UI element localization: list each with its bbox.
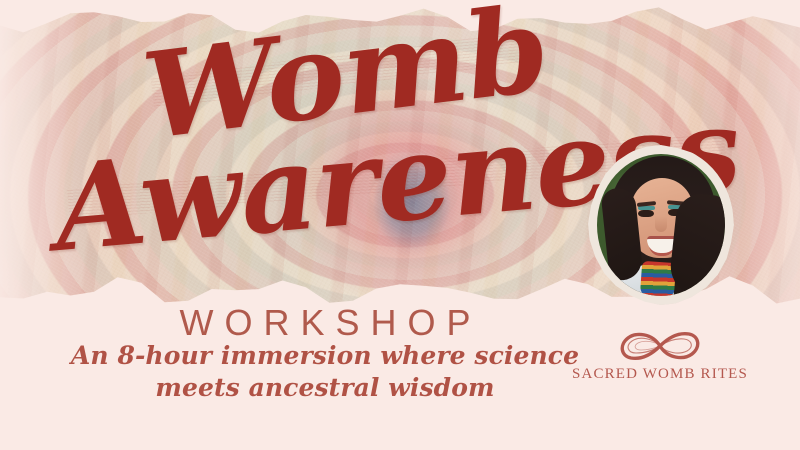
avatar-nose <box>655 216 667 232</box>
headline-subtitle-workshop: WORKSHOP <box>0 305 650 341</box>
tagline-line-2: meets ancestral wisdom <box>0 372 650 404</box>
avatar-eye-left <box>638 210 654 217</box>
avatar <box>588 145 734 305</box>
infinity-icon <box>612 328 708 364</box>
tagline: An 8-hour immersion where science meets … <box>0 340 650 404</box>
brand-name: SACRED WOMB RITES <box>565 366 755 383</box>
avatar-photo <box>597 154 725 296</box>
poster-canvas: Womb Awareness WORKSHOP An 8-hour immers… <box>0 0 800 450</box>
brand-lockup: SACRED WOMB RITES <box>565 328 755 383</box>
tagline-line-1: An 8-hour immersion where science <box>0 340 650 372</box>
